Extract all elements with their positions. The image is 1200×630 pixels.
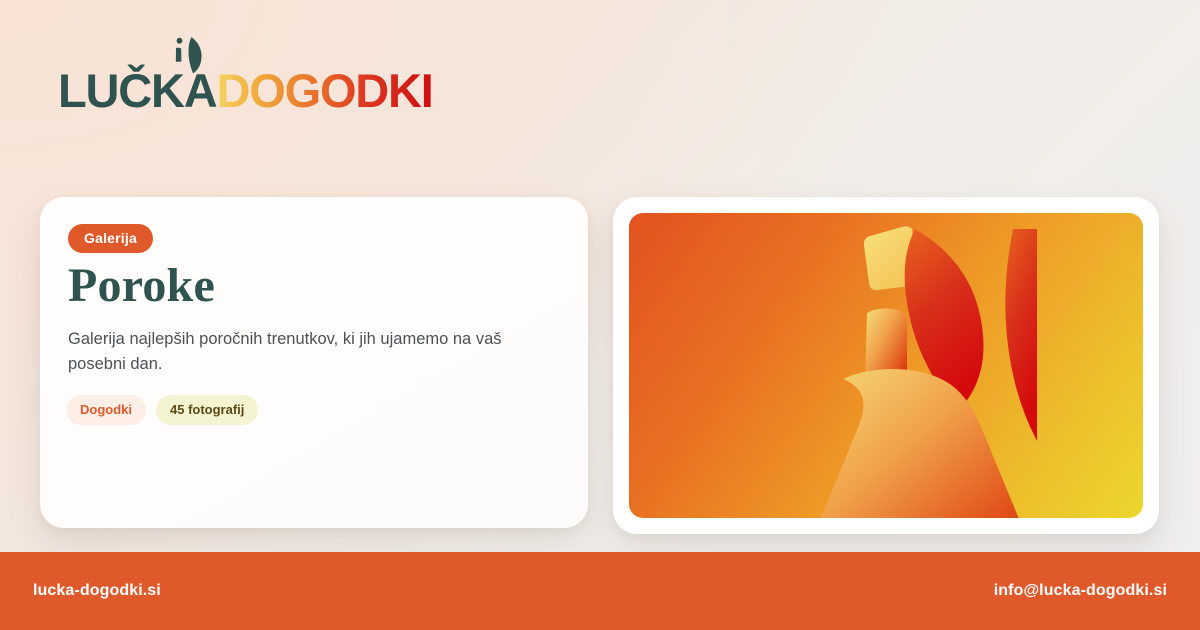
site-footer: lucka-dogodki.si info@lucka-dogodki.si	[0, 552, 1200, 630]
gallery-info-card[interactable]: Galerija Poroke Galerija najlepših poroč…	[40, 197, 588, 528]
gallery-cover-image	[629, 213, 1143, 518]
page-title: Poroke	[68, 259, 215, 313]
footer-email[interactable]: info@lucka-dogodki.si	[994, 582, 1167, 600]
footer-website[interactable]: lucka-dogodki.si	[33, 582, 161, 600]
card-description: Galerija najlepših poročnih trenutkov, k…	[68, 327, 560, 377]
logo-word-lucka: LUČKA	[58, 64, 216, 117]
logo-wordmark: LUČKADOGODKI	[58, 67, 433, 114]
site-header: LUČKADOGODKI	[58, 62, 433, 142]
status-badge: Galerija	[68, 224, 153, 253]
og-image-canvas: LUČKADOGODKI Galerija Poroke Galerija na…	[0, 0, 1200, 630]
brand-logo[interactable]: LUČKADOGODKI	[58, 67, 433, 137]
tag-category[interactable]: Dogodki	[66, 395, 146, 425]
gallery-image-card[interactable]	[613, 197, 1159, 534]
tag-photo-count[interactable]: 45 fotografij	[156, 395, 258, 425]
logo-word-dogodki: DOGODKI	[216, 64, 432, 117]
flame-leaf-watermark-icon	[629, 213, 1143, 518]
tag-list: Dogodki 45 fotografij	[66, 395, 258, 425]
content-cards: Galerija Poroke Galerija najlepših poroč…	[40, 197, 1160, 534]
